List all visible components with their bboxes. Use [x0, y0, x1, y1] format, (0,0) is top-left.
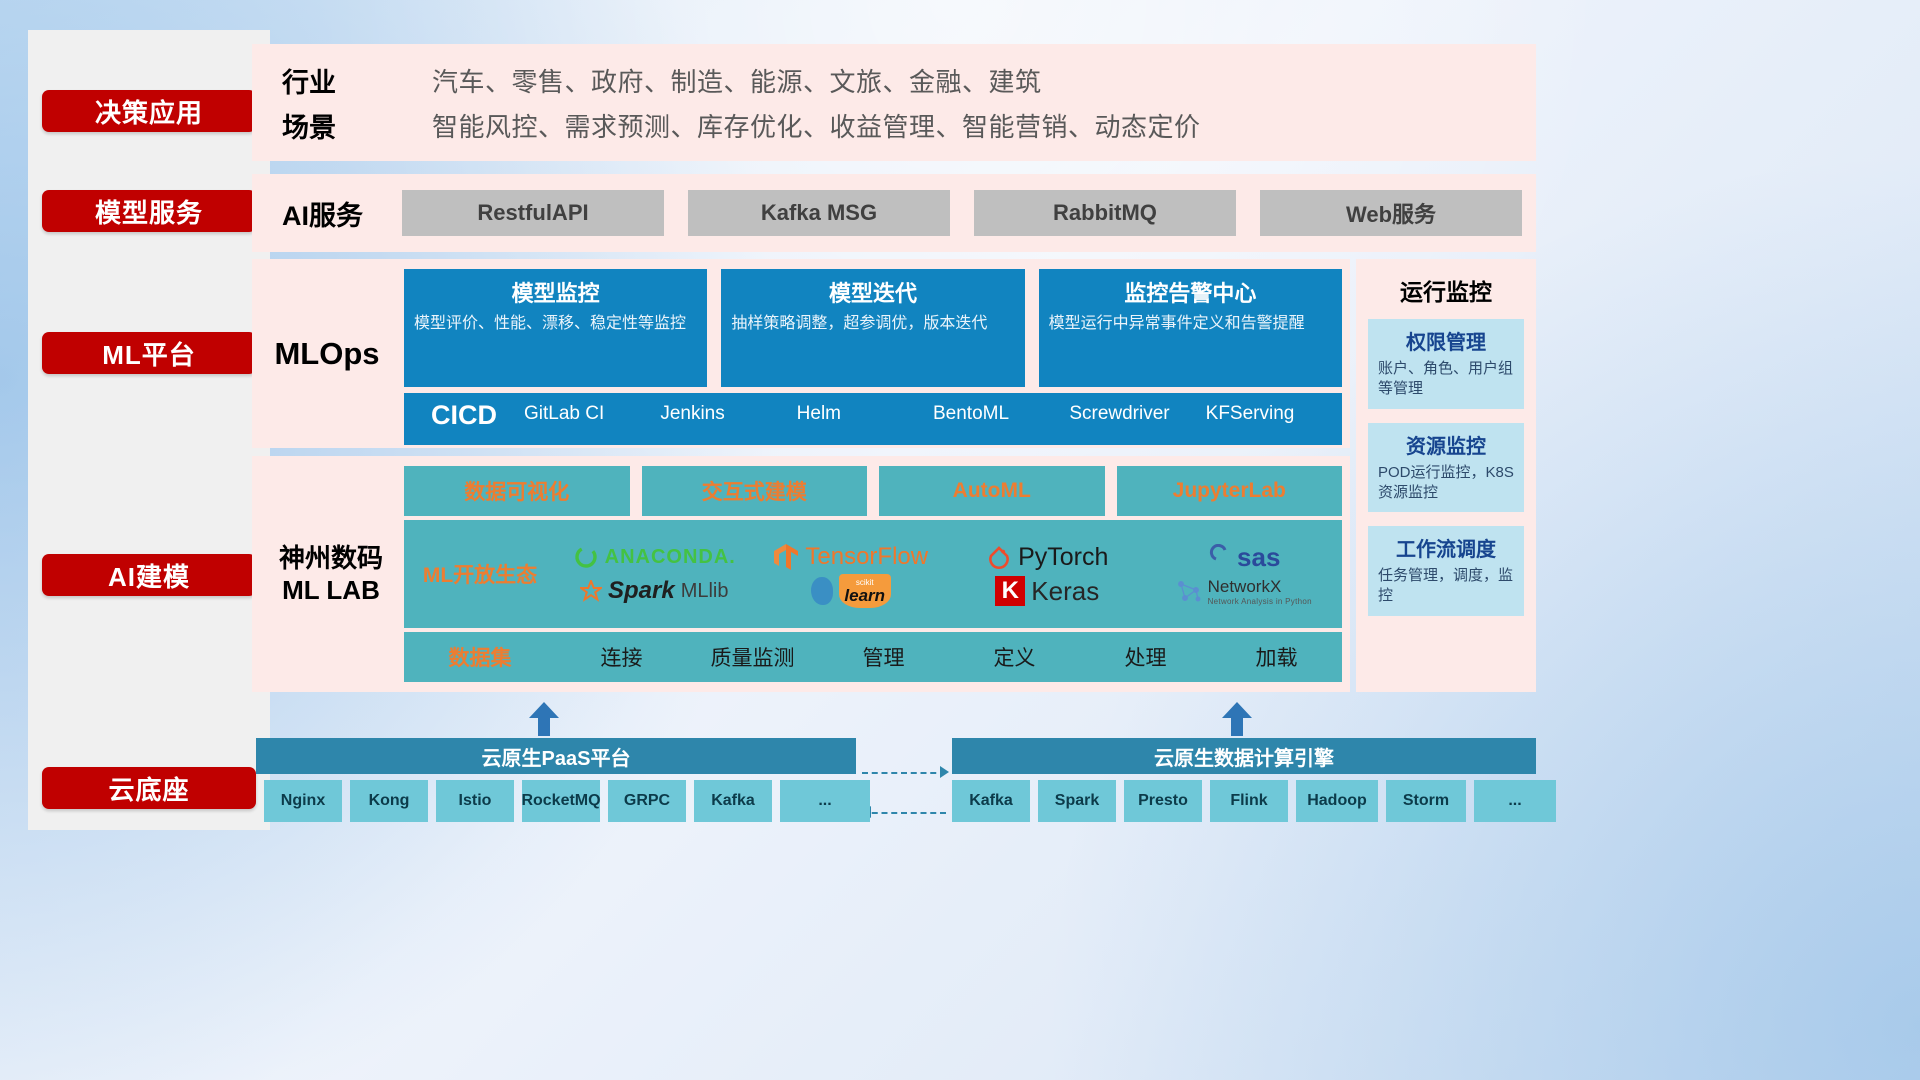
arrow-up-data-engine-to-lab — [1222, 702, 1252, 736]
stage-chip-label: AI建模 — [108, 557, 190, 594]
anaconda-ring-icon — [573, 544, 599, 570]
networkx-wordmark-group: NetworkX Network Analysis in Python — [1208, 577, 1312, 606]
card-title: 监控告警中心 — [1049, 276, 1332, 308]
paas-chip-more[interactable]: ... — [780, 780, 870, 822]
card-title: 模型监控 — [414, 276, 697, 308]
card-desc: 模型运行中异常事件定义和告警提醒 — [1049, 313, 1332, 335]
pytorch-logo[interactable]: PyTorch — [949, 543, 1146, 572]
monitoring-panel: 运行监控 权限管理 账户、角色、用户组等管理 资源监控 POD运行监控，K8S资… — [1356, 259, 1536, 692]
cicd-item-gitlab-ci[interactable]: GitLab CI — [524, 393, 660, 425]
tool-data-visualization[interactable]: 数据可视化 — [404, 466, 630, 516]
monitoring-card-permissions[interactable]: 权限管理 账户、角色、用户组等管理 — [1368, 319, 1524, 409]
pytorch-wordmark: PyTorch — [1018, 543, 1108, 572]
cicd-item-bentoml[interactable]: BentoML — [933, 393, 1069, 425]
ml-lab-panel: 神州数码 ML LAB 数据可视化 交互式建模 AutoML JupyterLa… — [252, 456, 1350, 692]
spark-star-icon — [580, 580, 602, 602]
arrow-up-paas-to-lab — [529, 702, 559, 736]
mllib-wordmark: MLlib — [681, 580, 729, 603]
networkx-tagline: Network Analysis in Python — [1208, 597, 1312, 606]
cicd-item-jenkins[interactable]: Jenkins — [660, 393, 796, 425]
data-chip-hadoop[interactable]: Hadoop — [1296, 780, 1378, 822]
pytorch-flame-icon — [986, 543, 1012, 571]
stage-chip-model-service[interactable]: 模型服务 — [42, 190, 256, 232]
dashed-connector-right — [862, 772, 946, 774]
card-desc: 抽样策略调整，超参调优，版本迭代 — [731, 313, 1014, 335]
dashed-connector-left — [862, 812, 946, 814]
keras-k-mark: K — [995, 576, 1025, 606]
tensorflow-wordmark: TensorFlow — [805, 543, 928, 571]
sas-wordmark: sas — [1237, 542, 1280, 573]
spark-wordmark: Spark — [608, 577, 675, 605]
networkx-graph-icon — [1176, 578, 1202, 604]
stage-chip-decision-app[interactable]: 决策应用 — [42, 90, 256, 132]
stage-chip-label: 决策应用 — [95, 93, 203, 130]
ml-lab-label-line1: 神州数码 — [279, 542, 383, 575]
ecosystem-label: ML开放生态 — [404, 559, 556, 589]
cicd-item-kfserving[interactable]: KFServing — [1206, 393, 1342, 425]
dataset-item-quality[interactable]: 质量监测 — [687, 642, 818, 672]
data-chip-kafka[interactable]: Kafka — [952, 780, 1030, 822]
monitoring-card-workflow[interactable]: 工作流调度 任务管理，调度，监控 — [1368, 526, 1524, 616]
mlops-panel: MLOps 模型监控 模型评价、性能、漂移、稳定性等监控 模型迭代 抽样策略调整… — [252, 259, 1350, 448]
architecture-diagram: 决策应用 模型服务 ML平台 AI建模 云底座 行业 汽车、零售、政府、制造、能… — [0, 0, 1920, 1080]
networkx-wordmark: NetworkX — [1208, 577, 1282, 596]
keras-logo[interactable]: K Keras — [949, 576, 1146, 607]
keras-wordmark: Keras — [1031, 576, 1099, 607]
paas-chip-kong[interactable]: Kong — [350, 780, 428, 822]
dataset-item-manage[interactable]: 管理 — [818, 642, 949, 672]
tool-automl[interactable]: AutoML — [879, 466, 1105, 516]
dataset-item-define[interactable]: 定义 — [949, 642, 1080, 672]
tensorflow-mark-icon — [773, 543, 799, 571]
ai-service-panel: AI服务 RestfulAPI Kafka MSG RabbitMQ Web服务 — [252, 174, 1536, 252]
cicd-label: CICD — [404, 393, 524, 431]
tool-jupyterlab[interactable]: JupyterLab — [1117, 466, 1343, 516]
stage-chip-ai-modeling[interactable]: AI建模 — [42, 554, 256, 596]
mlops-card-model-iteration[interactable]: 模型迭代 抽样策略调整，超参调优，版本迭代 — [721, 269, 1024, 387]
data-engine-chip-row: Kafka Spark Presto Flink Hadoop Storm ..… — [952, 780, 1556, 822]
data-chip-more[interactable]: ... — [1474, 780, 1556, 822]
spark-mllib-logo[interactable]: Spark MLlib — [556, 577, 753, 605]
stage-chip-label: ML平台 — [102, 335, 196, 372]
cicd-bar: CICD GitLab CI Jenkins Helm BentoML Scre… — [404, 393, 1342, 445]
data-chip-spark[interactable]: Spark — [1038, 780, 1116, 822]
tool-interactive-modeling[interactable]: 交互式建模 — [642, 466, 868, 516]
stage-rail — [28, 30, 270, 830]
paas-chip-rocketmq[interactable]: RocketMQ — [522, 780, 600, 822]
ai-service-item-restfulapi[interactable]: RestfulAPI — [402, 190, 664, 236]
monitoring-card-resources[interactable]: 资源监控 POD运行监控，K8S资源监控 — [1368, 423, 1524, 513]
stage-chip-label: 云底座 — [108, 770, 189, 807]
sas-logo[interactable]: sas — [1146, 542, 1343, 573]
dataset-item-connect[interactable]: 连接 — [556, 642, 687, 672]
data-chip-presto[interactable]: Presto — [1124, 780, 1202, 822]
anaconda-logo[interactable]: ANACONDA. — [556, 544, 753, 570]
ai-service-item-rabbitmq[interactable]: RabbitMQ — [974, 190, 1236, 236]
card-desc: POD运行监控，K8S资源监控 — [1378, 463, 1514, 504]
networkx-logo[interactable]: NetworkX Network Analysis in Python — [1146, 577, 1343, 606]
mlops-card-model-monitoring[interactable]: 模型监控 模型评价、性能、漂移、稳定性等监控 — [404, 269, 707, 387]
stage-chip-label: 模型服务 — [95, 193, 203, 230]
paas-bar[interactable]: 云原生PaaS平台 — [256, 738, 856, 774]
paas-chip-istio[interactable]: Istio — [436, 780, 514, 822]
industry-label: 行业 — [282, 61, 432, 100]
stage-chip-cloud-foundation[interactable]: 云底座 — [42, 767, 256, 809]
data-chip-flink[interactable]: Flink — [1210, 780, 1288, 822]
data-chip-storm[interactable]: Storm — [1386, 780, 1466, 822]
dataset-label: 数据集 — [404, 642, 556, 672]
card-title: 权限管理 — [1378, 326, 1514, 355]
monitoring-title: 运行监控 — [1356, 259, 1536, 319]
ai-service-item-kafka-msg[interactable]: Kafka MSG — [688, 190, 950, 236]
learn-text: learn — [844, 587, 885, 604]
scikit-blob-icon — [811, 577, 833, 605]
ml-lab-label: 神州数码 ML LAB — [258, 456, 404, 692]
dataset-item-process[interactable]: 处理 — [1080, 642, 1211, 672]
cicd-item-screwdriver[interactable]: Screwdriver — [1069, 393, 1205, 425]
tensorflow-logo[interactable]: TensorFlow — [753, 543, 950, 571]
card-title: 工作流调度 — [1378, 533, 1514, 562]
paas-chip-row: Nginx Kong Istio RocketMQ GRPC Kafka ... — [264, 780, 870, 822]
card-title: 模型迭代 — [731, 276, 1014, 308]
paas-chip-nginx[interactable]: Nginx — [264, 780, 342, 822]
dataset-item-load[interactable]: 加载 — [1211, 642, 1342, 672]
ai-service-label: AI服务 — [282, 194, 402, 233]
dashed-arrow-head-right — [940, 766, 949, 778]
ml-lab-label-line2: ML LAB — [282, 574, 380, 607]
dataset-row: 数据集 连接 质量监测 管理 定义 处理 加载 — [404, 632, 1342, 682]
industry-value: 汽车、零售、政府、制造、能源、文旅、金融、建筑 — [432, 62, 1536, 99]
card-desc: 账户、角色、用户组等管理 — [1378, 359, 1514, 400]
ai-service-item-web-service[interactable]: Web服务 — [1260, 190, 1522, 236]
scikit-learn-badge: scikit learn — [839, 574, 891, 608]
mlops-card-alert-center[interactable]: 监控告警中心 模型运行中异常事件定义和告警提醒 — [1039, 269, 1342, 387]
paas-chip-kafka[interactable]: Kafka — [694, 780, 772, 822]
data-engine-bar[interactable]: 云原生数据计算引擎 — [952, 738, 1536, 774]
ecosystem-row: ML开放生态 ANACONDA. TensorFlow — [404, 520, 1342, 628]
anaconda-wordmark: ANACONDA. — [605, 546, 736, 569]
cicd-item-helm[interactable]: Helm — [797, 393, 933, 425]
card-title: 资源监控 — [1378, 430, 1514, 459]
card-desc: 任务管理，调度，监控 — [1378, 566, 1514, 607]
scenario-label: 场景 — [282, 106, 432, 145]
scenario-value: 智能风控、需求预测、库存优化、收益管理、智能营销、动态定价 — [432, 107, 1536, 144]
paas-chip-grpc[interactable]: GRPC — [608, 780, 686, 822]
application-panel: 行业 汽车、零售、政府、制造、能源、文旅、金融、建筑 场景 智能风控、需求预测、… — [252, 44, 1536, 161]
sas-swirl-icon — [1207, 544, 1231, 570]
card-desc: 模型评价、性能、漂移、稳定性等监控 — [414, 313, 697, 335]
mlops-label: MLOps — [252, 259, 402, 448]
stage-chip-ml-platform[interactable]: ML平台 — [42, 332, 256, 374]
scikit-learn-logo[interactable]: scikit learn — [753, 574, 950, 608]
